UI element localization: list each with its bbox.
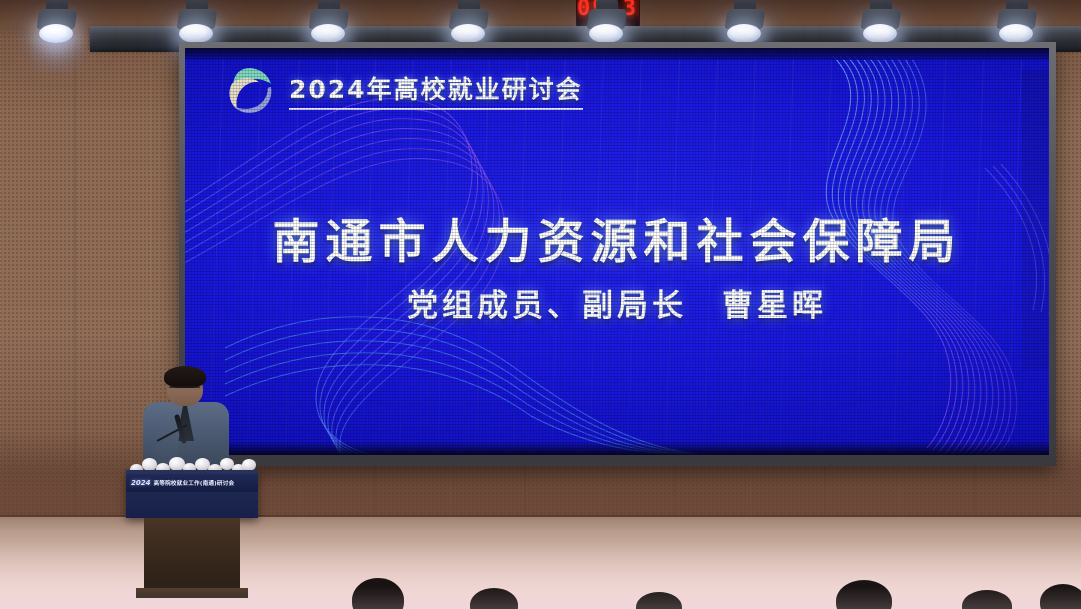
screen-header-title: 2024年高校就业研讨会 [289,70,583,110]
foreground-haze [0,586,1081,609]
screen-header: 2024年高校就业研讨会 [223,64,583,116]
screen-top-edge [185,48,1049,60]
conference-swirl-logo [223,64,275,116]
spotlight-beam [30,36,82,70]
podium-banner: 2024 高等院校就业工作(南通)研讨会 [126,474,258,492]
speaker-hair [164,366,206,388]
screen-bottom-edge [185,441,1049,455]
conference-hall-photo: 09:31 [0,0,1081,609]
podium-area: 2024 高等院校就业工作(南通)研讨会 [110,362,270,609]
speaker-glasses [169,386,200,395]
screen-sub-title: 党组成员、副局长 曹星晖 [185,280,1049,325]
screen-main-title: 南通市人力资源和社会保障局 [185,203,1049,272]
led-screen: 2024年高校就业研讨会 南通市人力资源和社会保障局 党组成员、副局长 曹星晖 [185,48,1049,455]
podium-base [144,518,240,590]
podium-banner-year: 2024 [131,479,150,487]
podium-banner-text: 高等院校就业工作(南通)研讨会 [153,479,234,487]
screen-side-column [1022,70,1048,370]
